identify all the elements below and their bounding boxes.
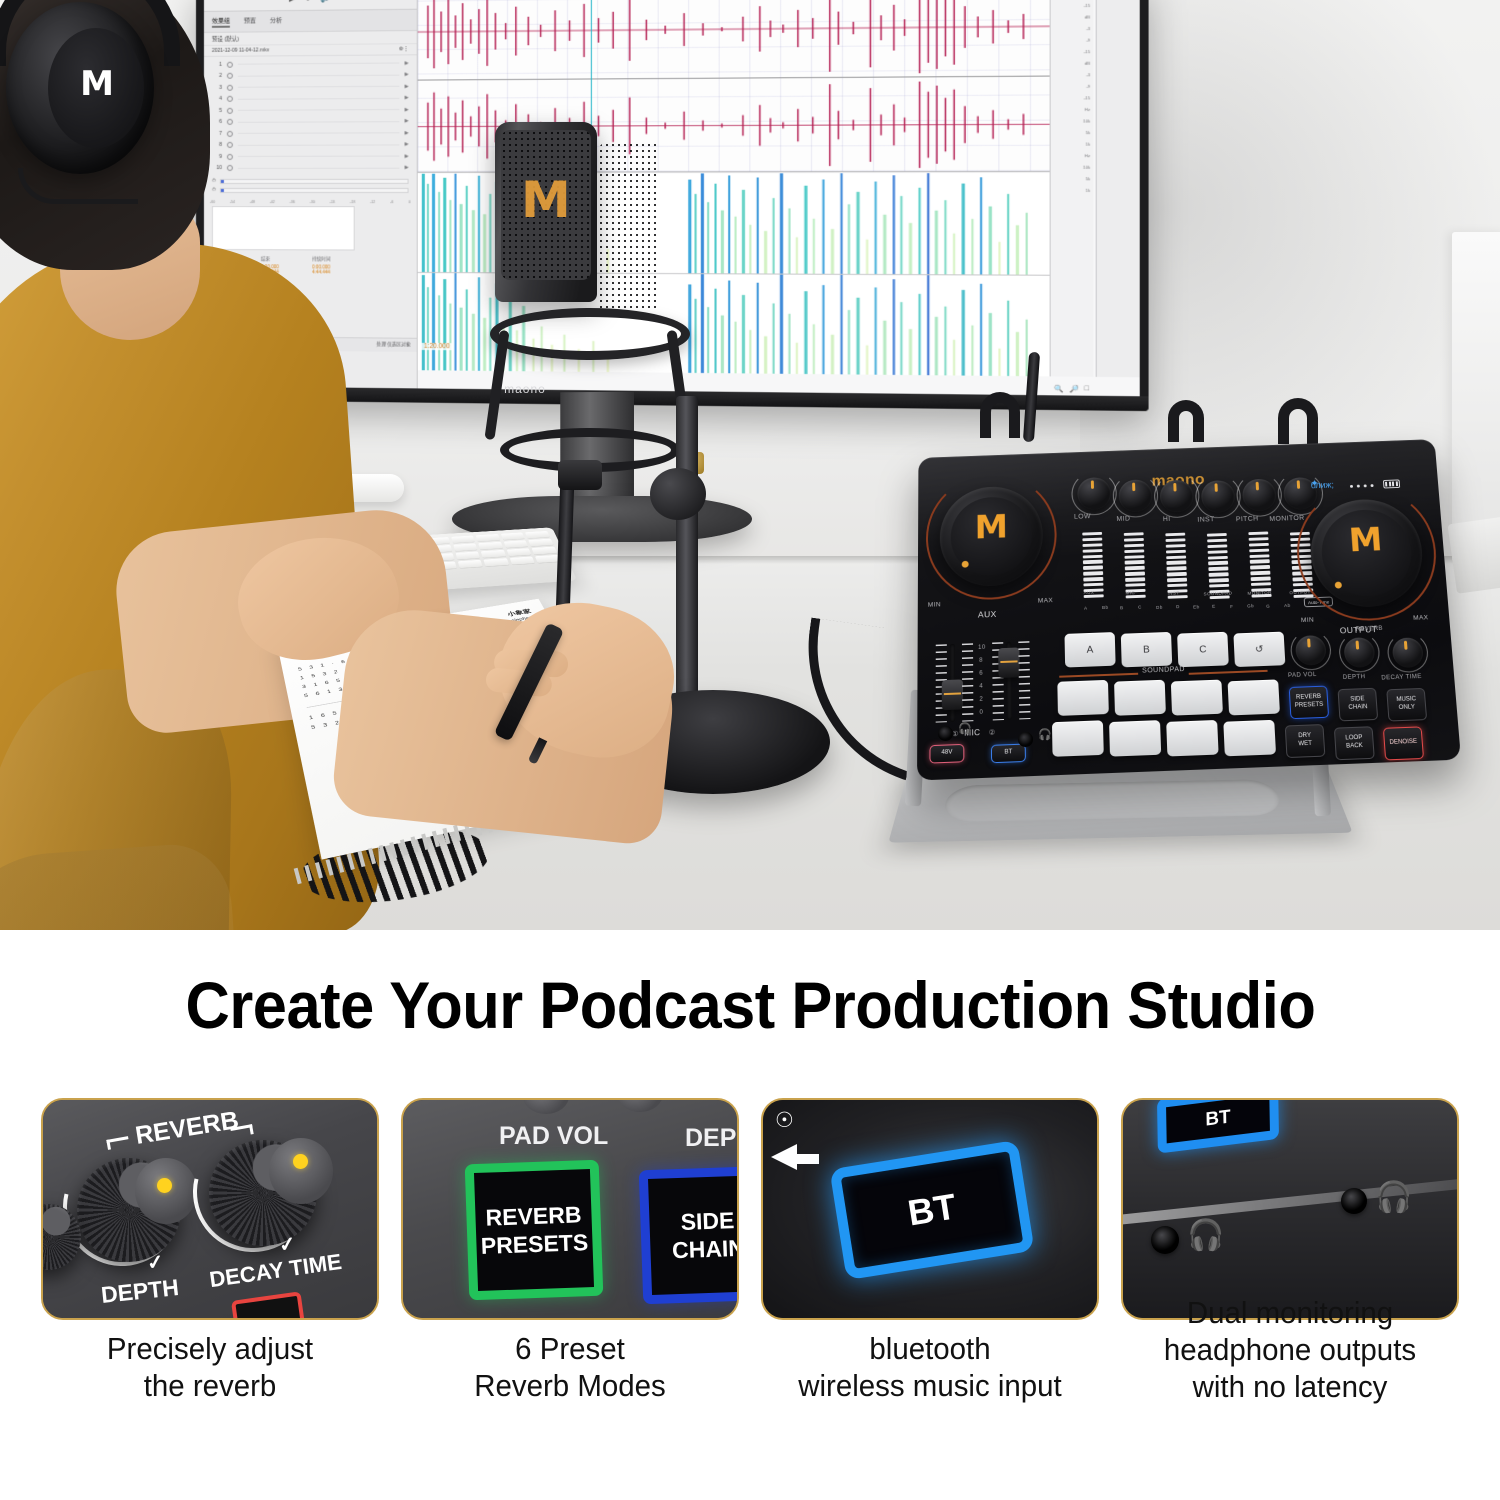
ruler-tick: -3 [1051,72,1094,84]
battery-icon [1383,479,1400,488]
scale-tick: -6 [390,200,393,204]
knob-indicator [1256,482,1259,491]
fader-scale-4: 4 [979,684,983,690]
ruler-tick: -15 [1051,49,1094,61]
ruler-tick: 5k [1051,176,1094,188]
caption-reverb-presets: 6 Preset Reverb Modes [409,1330,730,1490]
track-toggle[interactable] [227,85,233,91]
list-item[interactable]: 9▶ [204,150,417,162]
aux-max-label: MAX [1038,597,1053,604]
headline-section: Create Your Podcast Production Studio [0,930,1500,1080]
volume-icon[interactable]: 🔊 [320,0,330,3]
soundpad-pad[interactable] [1114,680,1166,716]
key[interactable] [457,560,482,568]
key[interactable] [481,550,506,558]
monitor-meter [1248,531,1271,597]
depth-label-partial: DEP [685,1124,736,1153]
scale-tick: 0 [408,200,410,204]
aux-label: AUX [978,609,997,619]
bluetooth-status-icon: ✦ [1310,479,1319,490]
tab-presets[interactable]: 预置 [244,15,256,27]
knob-indicator [1173,483,1176,492]
scale-tick: -30 [310,200,315,204]
meter-label-aux: AUX [1084,590,1095,595]
feature-card-reverb-presets: PAD VOL DEP REVERB PRESETS SIDE CHAIN [401,1098,739,1320]
inst-meter [1165,533,1187,599]
col-end: 结束 [261,256,297,262]
headphone-icon: 🎧 [1038,728,1052,741]
feature-card-headphone-outputs: BT 🎧 🎧 [1121,1098,1459,1320]
caption-line: 6 Preset [409,1330,730,1367]
decay-knob-indicator-dot [293,1154,308,1169]
note-key[interactable]: G [1266,604,1270,609]
soundpad-pad[interactable] [1171,680,1223,716]
knob-indicator [1356,641,1360,650]
tab-analysis[interactable]: 分析 [270,15,282,27]
reverb-presets-button[interactable]: REVERB PRESETS [1289,686,1329,720]
pitch-label: PITCH [1236,516,1259,523]
scale-tick: -12 [370,200,375,204]
maono-logo-icon: M [521,170,565,234]
key[interactable] [525,531,550,538]
note-key[interactable]: Bb [1102,605,1109,610]
caption-line: the reverb [49,1367,370,1404]
check-mark-icon: ✓ [145,1249,165,1276]
headphone-jack-2[interactable] [1341,1188,1367,1214]
fader-scale-6: 6 [979,671,983,677]
fader-scale-8: 8 [979,658,983,664]
track-bar [238,98,400,100]
ruler-tick: 10k [1051,165,1094,177]
mixer-cable [980,392,1020,438]
note-key[interactable]: F [1230,604,1233,609]
preview-box [212,206,355,250]
meter-icon: ⏱ [212,187,216,193]
aux-meter [1082,532,1103,598]
aux-min-label: MIN [928,601,941,608]
side-chain-button[interactable]: SIDE CHAIN [1337,688,1378,722]
list-item[interactable]: 7▶ [204,127,417,139]
soundpad-rule [1189,670,1268,675]
shock-mount-ring [490,308,690,360]
expand-icon[interactable]: ▶ [405,60,409,66]
meter-icon: ⏱ [212,178,216,184]
key[interactable] [506,548,531,556]
col-duration: 持续时间 [312,256,348,262]
inst-label: INST [1197,516,1215,523]
decay-time-label: DECAY TIME [1381,674,1422,682]
expand-icon[interactable]: ▶ [405,130,409,136]
track-toggle[interactable] [227,154,233,160]
note-key[interactable]: Gb [1247,603,1254,608]
soundpad-meter [1207,533,1230,599]
track-number: 9 [212,154,222,160]
note-key[interactable]: Db [1156,605,1163,610]
ruler-tick: Hz [1051,107,1094,119]
side-chain-line1: SIDE [680,1206,735,1236]
denoise-button[interactable]: DENOISE [1383,726,1424,760]
track-bar [238,167,400,168]
fader-ticks [1018,641,1030,719]
track-number: 5 [212,108,222,114]
meter-label-inst: INST [1167,591,1179,596]
track-toggle[interactable] [227,131,233,137]
knob-indicator [1132,483,1135,492]
audio-mixer[interactable]: M MIN AUX MAX maono LOW MID HI INST [917,439,1461,780]
mic-stand-pole [676,396,698,714]
track-number: 8 [212,142,222,148]
loop-back-label2: BACK [1346,743,1363,751]
pad-vol-label: PAD VOL [499,1122,608,1151]
headphone-icon: 🎧 [1187,1218,1224,1253]
fit-icon[interactable]: □ [1084,385,1089,393]
track-bar [238,74,400,76]
meter-track [220,178,409,183]
caption-reverb-knobs: Precisely adjust the reverb [49,1330,370,1490]
waveform-channel-left [418,0,1050,79]
ruler-tick: Hz [1051,153,1094,165]
meter-fill [221,188,224,191]
ruler-tick: 1k [1051,141,1094,153]
music-only-button[interactable]: MUSIC ONLY [1386,688,1427,722]
bluetooth-button[interactable]: BT [991,744,1026,764]
key[interactable] [451,536,475,544]
expand-icon[interactable]: ▶ [405,118,409,124]
mic-meter [1124,532,1146,598]
file-actions-icon[interactable]: ⚙⋮ [399,46,409,52]
headphone-jack-1[interactable] [1151,1226,1179,1254]
track-number: 7 [212,131,222,137]
headphone-icon: 🎧 [1375,1180,1412,1215]
meter-row: ⏱ [212,187,409,193]
fader-scale-2: 2 [979,697,983,703]
meter-track [220,187,409,192]
caption-line: with no latency [1129,1368,1450,1405]
monitor-label: MONITOR [1269,515,1305,523]
denoise-label: DENOISE [1389,739,1417,748]
ruler-tick: -15 [1051,95,1094,107]
expand-icon[interactable]: ▶ [405,107,409,113]
meter-label-mic: MIC [1126,590,1136,595]
loop-back-button[interactable]: LOOP BACK [1334,726,1375,760]
soundpad-c[interactable]: C [1177,632,1229,667]
dry-wet-button[interactable]: DRY WET [1285,724,1326,758]
list-item[interactable]: 10▶ [204,162,417,174]
list-item[interactable]: 8▶ [204,139,417,151]
expand-icon[interactable]: ▶ [405,142,409,148]
note-key[interactable]: C [1138,605,1142,610]
play-icon[interactable]: ▶ [289,0,295,3]
headphone-jack-1[interactable] [938,726,953,741]
timecode-label: 1:20.000 [422,343,452,350]
knob-indicator [1404,641,1408,650]
scale-tick: -42 [270,200,275,204]
software-meters: ⏱ ⏱ [204,174,417,200]
secondary-keyboard [1447,516,1500,594]
key[interactable] [532,547,557,555]
zoom-in-icon[interactable]: 🔍 [1054,385,1064,393]
track-bar [238,63,400,65]
ruler-tick: dB [1051,61,1094,73]
key[interactable] [455,551,480,559]
key[interactable] [476,534,500,542]
reverb-presets-line1: REVERB [485,1200,582,1231]
key[interactable] [501,532,525,539]
low-label: LOW [1074,513,1091,520]
scale-tick: -24 [330,200,335,204]
headphone-earcup: M [6,2,154,174]
microphone-rear [598,142,660,312]
pad-vol-label: PAD VOL [1288,672,1317,679]
knob-indicator [1214,483,1217,492]
key[interactable] [529,539,554,547]
side-chain-button[interactable]: SIDE CHAIN [639,1166,739,1305]
note-key[interactable]: Eb [1193,604,1200,609]
key[interactable] [478,542,503,550]
stand-slot [941,779,1284,822]
track-toggle[interactable] [227,119,233,125]
note-key[interactable]: D [1176,604,1180,609]
expand-icon[interactable]: ▶ [405,153,409,159]
depth-label: DEPTH [1343,674,1366,681]
knob-indicator [1091,480,1094,489]
soundpad-loop-icon[interactable]: ↺ [1233,632,1285,667]
track-number: 6 [212,119,222,125]
track-toggle[interactable] [227,142,233,148]
soundpad-pad[interactable] [1166,720,1218,757]
mid-label: MID [1116,516,1130,523]
ruler-tick: 10k [1051,118,1094,130]
meter-row: ⏱ [212,178,409,184]
note-key[interactable]: B [1120,605,1124,610]
caption-line: bluetooth [769,1330,1090,1367]
key[interactable] [503,540,528,548]
expand-icon[interactable]: ▶ [405,95,409,101]
fader-scale-0: 0 [979,710,983,716]
ruler-tick: dB [1051,14,1094,26]
track-toggle[interactable] [227,61,233,67]
caption-line: Precisely adjust [49,1330,370,1367]
track-bar [238,121,400,123]
track-toggle[interactable] [227,108,233,114]
ruler-tick: 1k [1051,188,1094,200]
music-only-label2: ONLY [1399,704,1416,712]
ruler-tick: -9 [1051,84,1094,96]
soundpad-pad[interactable] [1223,720,1276,757]
pointer-arrow-icon [771,1144,797,1170]
secondary-ruler [1096,0,1140,377]
caption-headphone-outputs: Dual monitoring headphone outputs with n… [1129,1294,1450,1490]
meter-fill [221,179,224,182]
side-chain-line2: CHAIN [672,1234,739,1265]
microphone-brand: maono [470,382,580,398]
cell: 4:44.444 [312,269,348,274]
page-title: Create Your Podcast Production Studio [185,967,1315,1043]
phantom-power-button[interactable]: 48V [929,744,964,764]
soundpad-pad[interactable] [1052,720,1104,757]
list-item[interactable]: 6▶ [204,116,417,128]
fader-ticks [962,643,973,721]
bluetooth-icon: ☉ [775,1108,794,1133]
mixer-cable [1168,400,1204,442]
mixer-body: M MIN AUX MAX maono LOW MID HI INST [917,439,1461,780]
track-number: 3 [212,85,222,91]
knob-indicator [1307,638,1311,647]
caption-line: Dual monitoring [1129,1294,1450,1331]
track-number: 10 [212,165,222,171]
screen-toolbar[interactable]: 🔍 🔎 □ [1054,385,1089,394]
headphone-jack-2[interactable] [1018,732,1033,747]
track-bar [238,86,400,88]
soundpad-rule [1059,673,1138,678]
ruler-tick: 5k [1051,130,1094,142]
loop-icon[interactable]: ↻ [304,0,311,3]
reverb-presets-button[interactable]: REVERB PRESETS [465,1160,604,1301]
expand-icon[interactable]: ▶ [405,165,409,171]
scale-tick: -48 [250,200,255,204]
ruler-tick: -9 [1051,37,1094,49]
decay-knob-top[interactable] [269,1138,333,1204]
wall-panel [1452,232,1500,562]
meter-label-monitor: MONITOR [1247,590,1272,596]
mic1-fader[interactable] [942,679,963,710]
scale-tick: -36 [290,200,295,204]
expand-icon[interactable]: ▶ [405,83,409,89]
caption-line: Reverb Modes [409,1367,730,1404]
reverb-presets-line2: PRESETS [480,1228,588,1260]
track-toggle[interactable] [227,165,233,171]
check-mark-icon: ✓ [277,1231,297,1258]
mixer-cable [1278,398,1318,444]
track-bar [238,109,400,111]
soundpad-pad[interactable] [1109,720,1161,757]
side-chain-label2: CHAIN [1348,704,1367,712]
mic-channel-2-icon: ② [989,728,996,736]
scale-tick: -60 [210,200,215,204]
file-name: 2021-12-09 11-04-12.mkv [212,47,269,53]
feature-captions: Precisely adjust the reverb 6 Preset Rev… [0,1330,1500,1490]
headphone-icon: 🎧 [958,722,972,735]
meter-scale: -60 -54 -48 -42 -36 -30 -24 -18 -12 -6 0 [204,200,417,204]
process-label: 处理 仅选区对象 [377,341,411,347]
reverb-presets-label2: PRESETS [1295,702,1324,711]
reverb-bracket-label: REVERB [1356,626,1384,633]
fader-scale-10: 10 [978,645,986,651]
note-key[interactable]: E [1212,604,1216,609]
track-toggle[interactable] [227,96,233,102]
tension-knob[interactable] [558,460,602,490]
note-key[interactable]: Ab [1284,603,1291,608]
mic2-fader[interactable] [998,647,1020,678]
output-max-label: MAX [1413,614,1429,621]
maono-logo-icon: M [78,64,116,106]
ruler-tick: -3 [1051,26,1094,38]
feature-card-bluetooth: ☉ BT [761,1098,1099,1320]
hi-label: HI [1163,516,1171,523]
caption-bluetooth: bluetooth wireless music input [769,1330,1090,1490]
tab-effects[interactable]: 效果组 [212,16,230,28]
list-item[interactable]: 5▶ [204,104,417,117]
track-number: 4 [212,96,222,102]
soundpad-label: SOUNDPAD [1142,666,1185,675]
soundpad-a[interactable]: A [1064,632,1115,667]
headphone-cable [18,168,138,204]
key[interactable] [453,543,477,551]
ruler-tick: -15 [1051,3,1094,15]
feature-card-reverb-knobs: REVERB ✓ DEPTH ✓ DECAY TIME [41,1098,379,1320]
hero-photo: ▶ ↻ 🔊 效果组 预置 分析 预设 (默认) 2021-12-09 11-04… [0,0,1500,930]
db-ruler: -3 -9 -15 dB -3 -9 -15 dB -3 -9 -15 Hz 1… [1050,0,1094,377]
dry-wet-label2: WET [1298,741,1312,749]
soundpad-pad[interactable] [1228,679,1280,715]
expand-icon[interactable]: ▶ [405,72,409,78]
soundpad-pad[interactable] [1057,680,1109,716]
track-number: 1 [212,62,222,68]
track-toggle[interactable] [227,73,233,79]
key[interactable] [484,558,509,566]
scale-tick: -18 [350,200,355,204]
note-key[interactable]: A [1084,606,1088,611]
track-bar [238,156,400,157]
soundpad-b[interactable]: B [1121,632,1172,667]
zoom-out-icon[interactable]: 🔎 [1069,385,1079,393]
mic-stand-knob[interactable] [650,468,706,520]
scale-tick: -54 [230,200,235,204]
key[interactable] [510,556,536,564]
caption-line: headphone outputs [1129,1331,1450,1368]
knob-indicator [1297,480,1300,489]
software-tabs[interactable]: 效果组 预置 分析 [204,10,417,33]
meter-label-output: OUTPUT [1289,590,1311,596]
track-bar [238,144,400,145]
track-number: 2 [212,73,222,79]
track-list[interactable]: 1▶ 2▶ 3▶ 4▶ 5▶ 6▶ 7▶ 8▶ 9▶ 10▶ [204,55,417,174]
track-bar [238,133,400,135]
output-min-label: MIN [1301,617,1315,624]
depth-knob-indicator-dot [157,1178,172,1193]
microphone: M [495,122,597,302]
caption-line: wireless music input [769,1367,1090,1404]
